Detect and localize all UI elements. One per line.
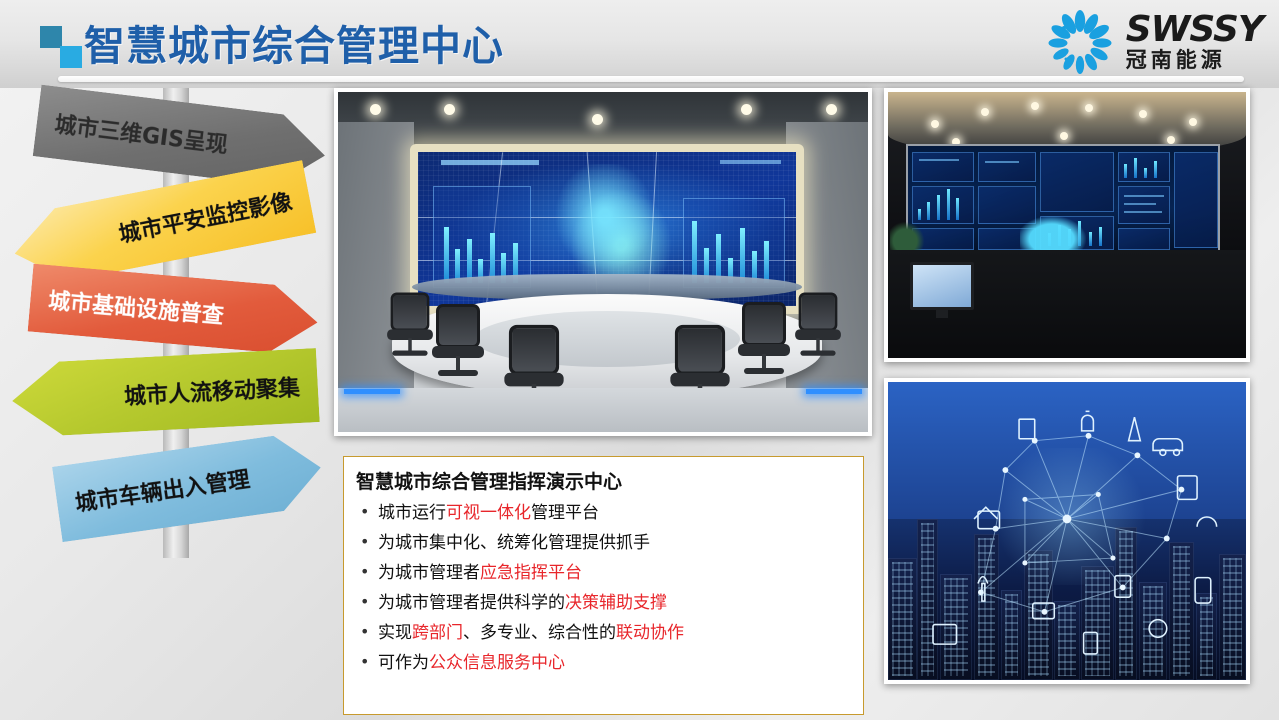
page-title: 智慧城市综合管理中心 <box>84 12 504 72</box>
company-logo: SWSSY 冠南能源 <box>1044 8 1263 78</box>
plain-text: 实现 <box>378 623 412 643</box>
signpost-label: 城市人流移动聚集 <box>123 370 300 411</box>
highlight-text: 可视一体化 <box>446 503 531 523</box>
signpost-group: 城市三维GIS呈现 城市平安监控影像 城市基础设施普查 城市人流移动聚集 城市车… <box>0 88 340 558</box>
square-dark-icon <box>40 26 62 48</box>
list-item: 为城市管理者提供科学的决策辅助支撑 <box>356 588 863 618</box>
square-light-icon <box>60 46 82 68</box>
water-drop-flower-logo-icon <box>1044 9 1116 77</box>
plain-text: 管理平台 <box>531 503 599 523</box>
highlight-text: 跨部门 <box>412 623 463 643</box>
slide-header: 智慧城市综合管理中心 <box>0 0 1279 88</box>
signpost-label: 城市平安监控影像 <box>116 184 295 249</box>
smart-city-network-photo <box>884 378 1250 684</box>
highlight-text: 决策辅助支撑 <box>565 593 667 613</box>
plain-text: 为城市集中化、统筹化管理提供抓手 <box>378 533 650 553</box>
plain-text: 可作为 <box>378 653 429 673</box>
plain-text: 为城市管理者 <box>378 563 480 583</box>
description-textbox: 智慧城市综合管理指挥演示中心 城市运行可视一体化管理平台为城市集中化、统筹化管理… <box>343 456 864 715</box>
signpost-sign-infrastructure: 城市基础设施普查 <box>28 264 321 357</box>
highlight-text: 公众信息服务中心 <box>429 653 565 673</box>
highlight-text: 联动协作 <box>616 623 684 643</box>
list-item: 可作为公众信息服务中心 <box>356 648 863 678</box>
signpost-sign-vehicle-access: 城市车辆出入管理 <box>52 430 326 542</box>
control-room-round-table-photo <box>334 88 872 436</box>
plain-text: 城市运行 <box>378 503 446 523</box>
plain-text: 、多专业、综合性的 <box>463 623 616 643</box>
highlight-text: 应急指挥平台 <box>480 563 582 583</box>
list-item: 实现跨部门、多专业、综合性的联动协作 <box>356 618 863 648</box>
monitoring-center-video-wall-photo <box>884 88 1250 362</box>
textbox-title: 智慧城市综合管理指挥演示中心 <box>344 457 863 498</box>
signpost-label: 城市车辆出入管理 <box>73 462 252 518</box>
textbox-bullet-list: 城市运行可视一体化管理平台为城市集中化、统筹化管理提供抓手为城市管理者应急指挥平… <box>344 498 863 678</box>
signpost-label: 城市三维GIS呈现 <box>53 107 230 160</box>
logo-text: SWSSY 冠南能源 <box>1126 13 1263 73</box>
list-item: 为城市集中化、统筹化管理提供抓手 <box>356 528 863 558</box>
logo-brand: SWSSY <box>1126 13 1263 47</box>
plain-text: 为城市管理者提供科学的 <box>378 593 565 613</box>
signpost-label: 城市基础设施普查 <box>47 283 225 330</box>
list-item: 城市运行可视一体化管理平台 <box>356 498 863 528</box>
list-item: 为城市管理者应急指挥平台 <box>356 558 863 588</box>
logo-subtitle: 冠南能源 <box>1126 47 1226 73</box>
signpost-sign-crowd-flow: 城市人流移动聚集 <box>10 348 319 438</box>
